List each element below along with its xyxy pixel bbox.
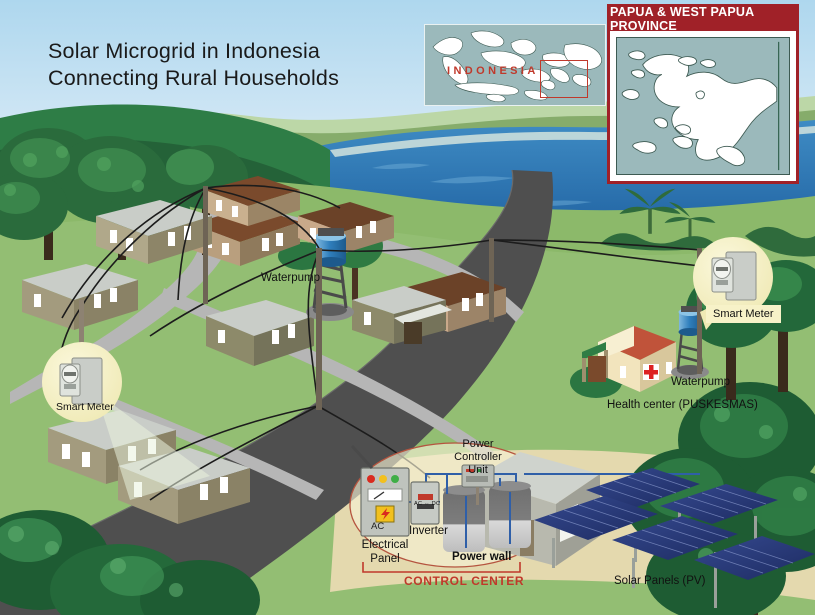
label-inverter-badge: AC ⇔ DC [414, 501, 440, 507]
label-electrical-panel-line2: Panel [352, 552, 418, 566]
label-pcu-line1: Power [447, 438, 509, 451]
papua-province-inset: PAPUA & WEST PAPUA PROVINCE [607, 4, 799, 184]
label-pcu-line3: Unit [447, 464, 509, 477]
label-smart-meter-right: Smart Meter [706, 305, 781, 323]
label-solar-panels: Solar Panels (PV) [614, 575, 705, 587]
label-panel-ac: AC [371, 521, 384, 532]
title-line-1: Solar Microgrid in Indonesia [48, 38, 468, 65]
infographic-canvas: Solar Microgrid in Indonesia Connecting … [0, 0, 815, 615]
label-power-wall: Power wall [452, 551, 511, 563]
indonesia-country-label: INDONESIA [447, 65, 539, 77]
label-waterpump-right: Waterpump [671, 376, 730, 388]
papua-map-area [616, 37, 790, 175]
label-power-controller-unit: Power Controller Unit [447, 438, 509, 477]
label-inverter: Inverter [409, 525, 448, 537]
label-smart-meter-left: Smart Meter [56, 401, 114, 413]
label-electrical-panel: Electrical Panel [352, 538, 418, 566]
label-pcu-line2: Controller [447, 451, 509, 464]
label-control-center: CONTROL CENTER [404, 574, 524, 588]
indonesia-locator-map: INDONESIA [424, 24, 606, 106]
papua-map-shapes [617, 38, 789, 174]
label-waterpump-center: Waterpump [261, 272, 320, 284]
label-electrical-panel-line1: Electrical [352, 538, 418, 552]
papua-highlight-box [540, 60, 588, 98]
label-health-center: Health center (PUSKESMAS) [607, 399, 758, 411]
title-line-2: Connecting Rural Households [48, 65, 468, 92]
page-title: Solar Microgrid in Indonesia Connecting … [48, 38, 468, 92]
papua-inset-header: PAPUA & WEST PAPUA PROVINCE [610, 7, 796, 31]
